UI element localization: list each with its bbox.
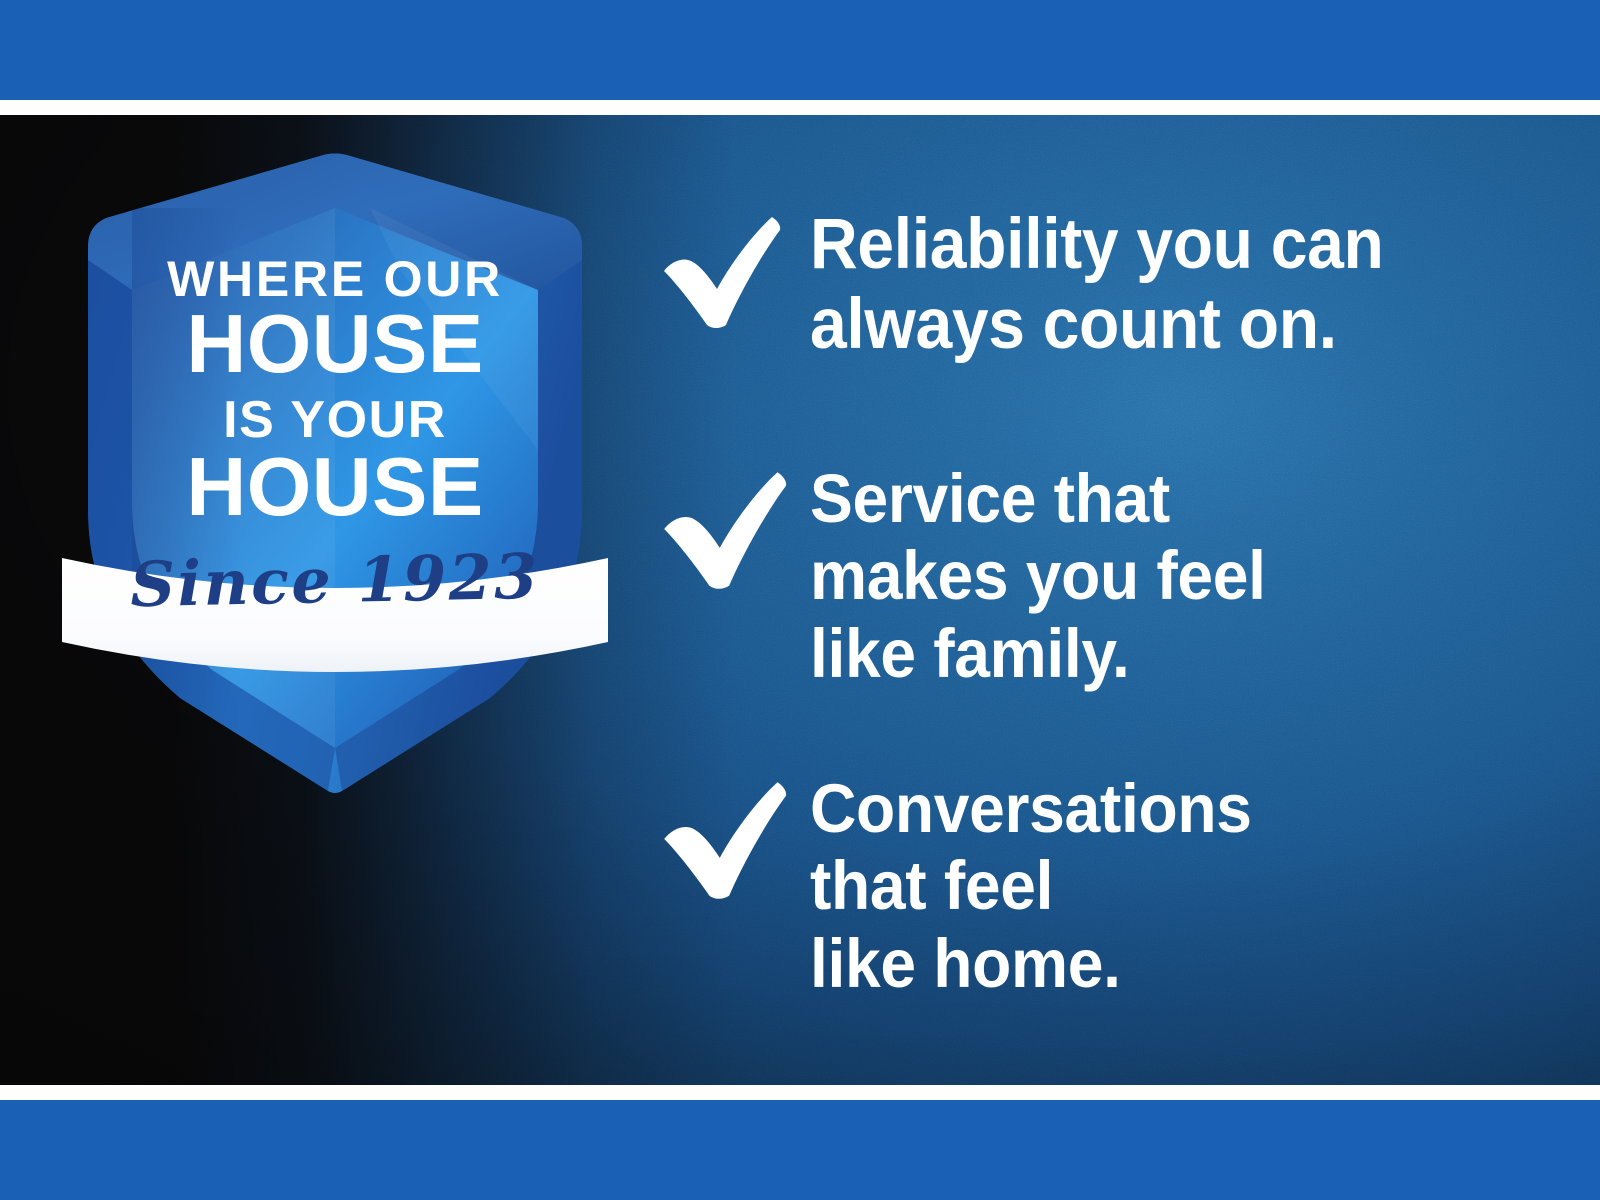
benefit-item: Service that makes you feel like family. — [660, 460, 1300, 692]
check-icon — [660, 770, 810, 902]
top-white-stripe — [0, 100, 1600, 115]
shield-badge: WHERE OUR HOUSE IS YOUR HOUSE Since 1923 — [70, 150, 600, 800]
benefit-item: Conversations that feel like home. — [660, 770, 1285, 1002]
benefits-list: Reliability you can always count on. Ser… — [660, 115, 1540, 1085]
graphic-canvas: WHERE OUR HOUSE IS YOUR HOUSE Since 1923… — [0, 0, 1600, 1200]
top-brand-bar — [0, 0, 1600, 100]
benefit-text: Conversations that feel like home. — [810, 770, 1252, 1002]
check-icon — [660, 460, 810, 592]
benefit-text: Service that makes you feel like family. — [810, 460, 1266, 692]
benefit-item: Reliability you can always count on. — [660, 205, 1427, 364]
bottom-white-stripe — [0, 1085, 1600, 1100]
benefit-text: Reliability you can always count on. — [810, 205, 1383, 364]
bottom-brand-bar — [0, 1100, 1600, 1200]
check-icon — [660, 205, 810, 331]
